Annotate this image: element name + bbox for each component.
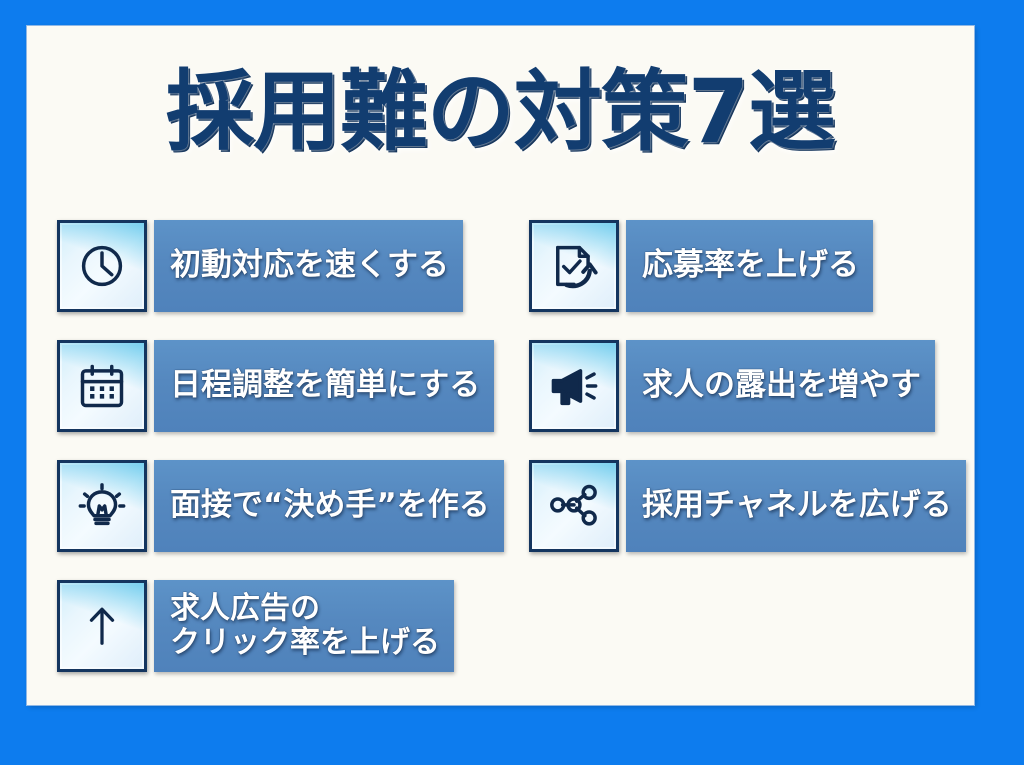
list-item-label: 日程調整を簡単にする <box>170 368 480 404</box>
left-column: 初動対応を速くする 日程調整を <box>57 220 497 700</box>
list-item[interactable]: 求人広告の クリック率を上げる <box>57 580 497 672</box>
slide-canvas: 採用難の対策7選 初動対応を速くする <box>27 26 974 705</box>
list-item[interactable]: 日程調整を簡単にする <box>57 340 497 432</box>
list-item-pill[interactable]: 面接で“決め手”を作る <box>154 460 504 552</box>
list-item-label: 応募率を上げる <box>642 248 859 284</box>
clock-icon <box>57 220 147 312</box>
list-item[interactable]: 採用チャネルを広げる <box>529 460 971 552</box>
list-item-pill[interactable]: 初動対応を速くする <box>154 220 463 312</box>
arrow-up-icon <box>57 580 147 672</box>
document-check-arrow-icon <box>529 220 619 312</box>
slide-frame: 採用難の対策7選 初動対応を速くする <box>0 0 1024 765</box>
list-item-pill[interactable]: 日程調整を簡単にする <box>154 340 494 432</box>
lightbulb-icon <box>57 460 147 552</box>
list-item-label: 初動対応を速くする <box>170 248 449 284</box>
right-column: 応募率を上げる 求人の露出を増やす <box>529 220 971 580</box>
list-item-label-line-1: 求人広告の <box>170 592 440 626</box>
list-item-label: 求人の露出を増やす <box>642 368 921 404</box>
list-item-pill[interactable]: 求人広告の クリック率を上げる <box>154 580 454 672</box>
list-item-pill[interactable]: 採用チャネルを広げる <box>626 460 966 552</box>
list-item-label: 求人広告の クリック率を上げる <box>170 592 440 660</box>
list-item-pill[interactable]: 応募率を上げる <box>626 220 873 312</box>
page-title: 採用難の対策7選 <box>27 66 974 158</box>
list-item-label-line-2: クリック率を上げる <box>170 626 440 660</box>
list-item-label: 採用チャネルを広げる <box>642 488 952 524</box>
list-item[interactable]: 応募率を上げる <box>529 220 971 312</box>
calendar-icon <box>57 340 147 432</box>
list-item-pill[interactable]: 求人の露出を増やす <box>626 340 935 432</box>
megaphone-icon <box>529 340 619 432</box>
list-item[interactable]: 面接で“決め手”を作る <box>57 460 497 552</box>
list-item-label: 面接で“決め手”を作る <box>170 488 490 524</box>
list-item[interactable]: 初動対応を速くする <box>57 220 497 312</box>
list-item[interactable]: 求人の露出を増やす <box>529 340 971 432</box>
share-network-icon <box>529 460 619 552</box>
